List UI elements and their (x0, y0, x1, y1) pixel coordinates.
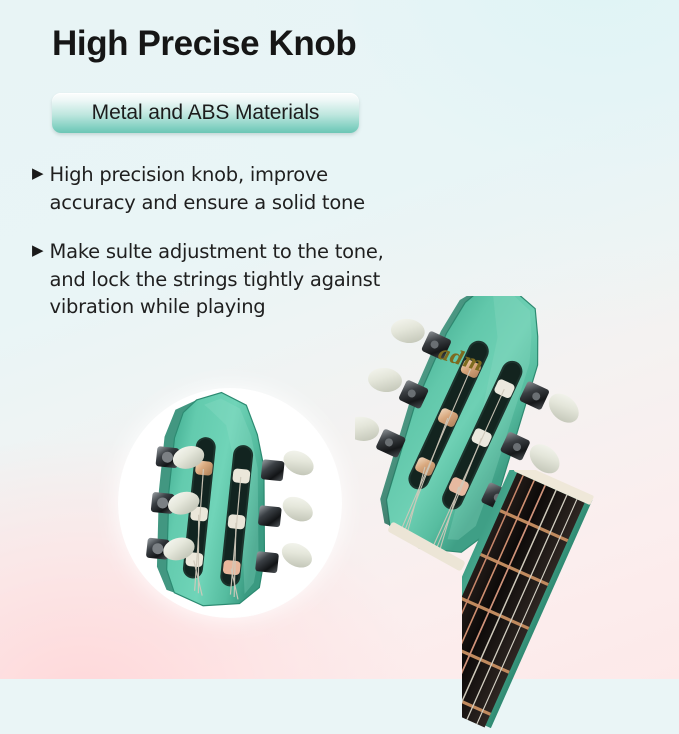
feature-bullet-1: ▶ High precision knob, improve accuracy … (32, 161, 432, 216)
triangle-bullet-icon: ▶ (32, 161, 44, 185)
page-title: High Precise Knob (52, 24, 356, 64)
feature-bullet-1-text: High precision knob, improve accuracy an… (50, 161, 365, 216)
content-layer: High Precise Knob Metal and ABS Material… (0, 0, 679, 679)
feature-bullet-2-text: Make sulte adjustment to the tone, and l… (50, 238, 384, 321)
feature-bullet-2: ▶ Make sulte adjustment to the tone, and… (32, 238, 452, 321)
materials-badge: Metal and ABS Materials (52, 93, 359, 133)
triangle-bullet-icon: ▶ (32, 238, 44, 262)
materials-badge-label: Metal and ABS Materials (92, 101, 320, 125)
